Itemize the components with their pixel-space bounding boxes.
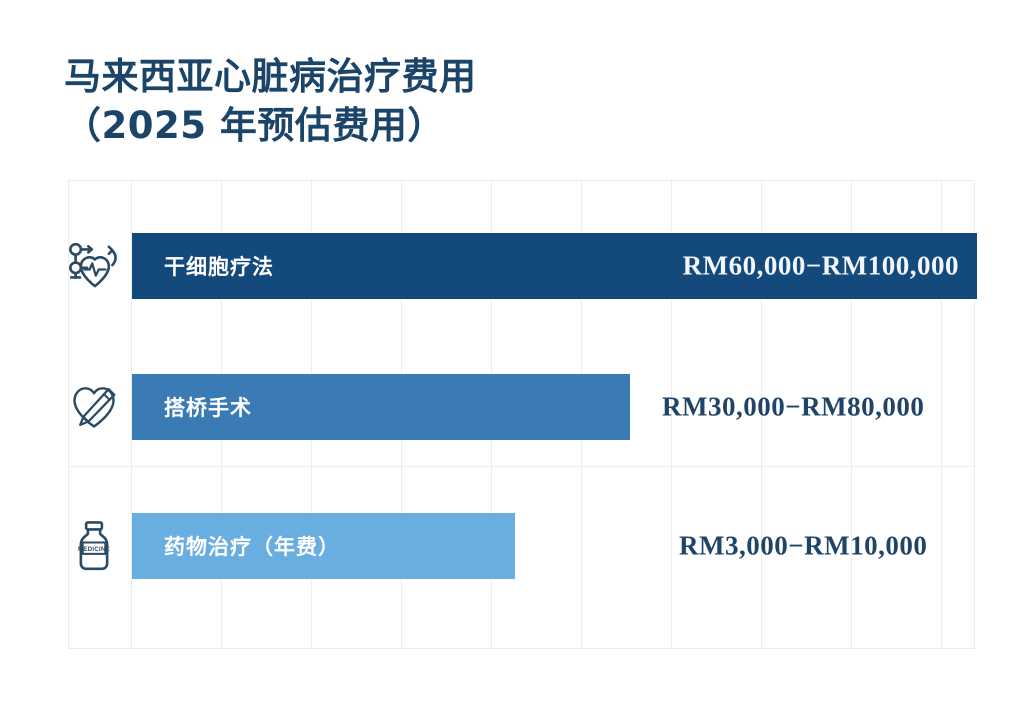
page-title: 马来西亚心脏病治疗费用 （2025 年预估费用） [64,52,944,150]
page-title-line-2: （2025 年预估费用） [64,101,944,150]
stem-cell-heart-icon [63,235,125,297]
heart-scalpel-icon [63,376,125,438]
bar-label-bypass: 搭桥手术 [164,392,252,422]
chart-row-bypass[interactable]: 搭桥手术 RM30,000−RM80,000 [69,374,974,440]
bar-label-stem-cell: 干细胞疗法 [164,251,274,281]
chart-row-medication[interactable]: MEDICINE 药物治疗（年费） RM3,000−RM10,000 [69,513,974,579]
bar-medication[interactable]: 药物治疗（年费） [132,513,515,579]
bar-value-medication: RM3,000−RM10,000 [679,531,927,562]
bar-label-medication: 药物治疗（年费） [164,531,340,561]
medicine-vial-icon: MEDICINE [63,515,125,577]
page-title-line-1: 马来西亚心脏病治疗费用 [64,52,944,101]
bar-chart: 干细胞疗法 RM60,000−RM100,000 搭桥手术 RM30,000−R… [68,180,975,649]
svg-text:MEDICINE: MEDICINE [78,546,110,553]
chart-row-stem-cell[interactable]: 干细胞疗法 RM60,000−RM100,000 [69,233,974,299]
grid-hline [69,466,974,467]
bar-value-stem-cell: RM60,000−RM100,000 [683,251,959,282]
bar-stem-cell[interactable]: 干细胞疗法 RM60,000−RM100,000 [132,233,977,299]
bar-bypass[interactable]: 搭桥手术 [132,374,630,440]
bar-value-bypass: RM30,000−RM80,000 [662,392,924,423]
